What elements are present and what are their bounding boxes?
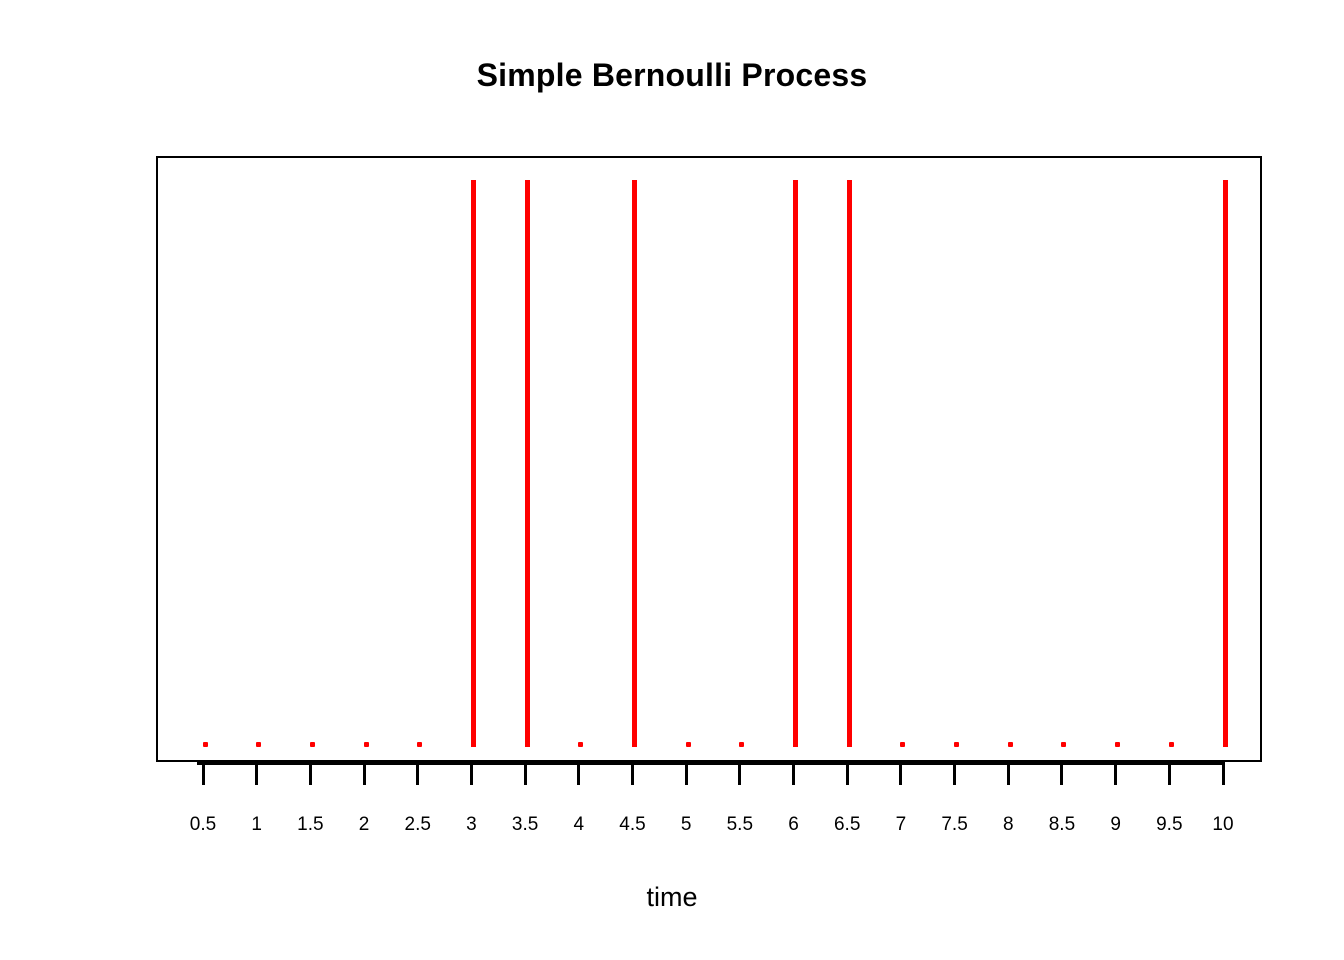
x-axis-tick-label: 10 [1183, 814, 1263, 836]
x-axis-tick [202, 762, 205, 785]
event-dot [954, 742, 959, 747]
event-bar [632, 180, 637, 747]
x-axis-tick [255, 762, 258, 785]
event-dot [1115, 742, 1120, 747]
event-bar [471, 180, 476, 747]
event-dot [1008, 742, 1013, 747]
event-bar [1223, 180, 1228, 747]
event-bar [525, 180, 530, 747]
x-axis-tick [470, 762, 473, 785]
event-dot [417, 742, 422, 747]
x-axis-tick [1168, 762, 1171, 785]
x-axis: 0.511.522.533.544.555.566.577.588.599.51… [156, 762, 1262, 822]
x-axis-tick [685, 762, 688, 785]
x-axis-tick [846, 762, 849, 785]
x-axis-tick [631, 762, 634, 785]
event-bar [793, 180, 798, 747]
chart-title: Simple Bernoulli Process [0, 56, 1344, 94]
x-axis-line [197, 762, 1223, 765]
x-axis-tick [1060, 762, 1063, 785]
x-axis-label: time [0, 880, 1344, 914]
x-axis-tick [953, 762, 956, 785]
event-dot [1169, 742, 1174, 747]
x-axis-tick [792, 762, 795, 785]
event-dot [900, 742, 905, 747]
event-dot [364, 742, 369, 747]
x-axis-tick [363, 762, 366, 785]
x-axis-tick [899, 762, 902, 785]
event-dot [1061, 742, 1066, 747]
event-bar [847, 180, 852, 747]
x-axis-tick [738, 762, 741, 785]
plot-area [158, 158, 1260, 760]
event-dot [203, 742, 208, 747]
x-axis-tick [577, 762, 580, 785]
plot-frame [156, 156, 1262, 762]
x-axis-tick [524, 762, 527, 785]
x-axis-tick [416, 762, 419, 785]
x-axis-tick [1222, 762, 1225, 785]
x-axis-tick [309, 762, 312, 785]
chart-figure: Simple Bernoulli Process 0.511.522.533.5… [0, 0, 1344, 960]
event-dot [310, 742, 315, 747]
event-dot [739, 742, 744, 747]
x-axis-tick [1007, 762, 1010, 785]
event-dot [256, 742, 261, 747]
event-dot [578, 742, 583, 747]
event-dot [686, 742, 691, 747]
x-axis-tick [1114, 762, 1117, 785]
